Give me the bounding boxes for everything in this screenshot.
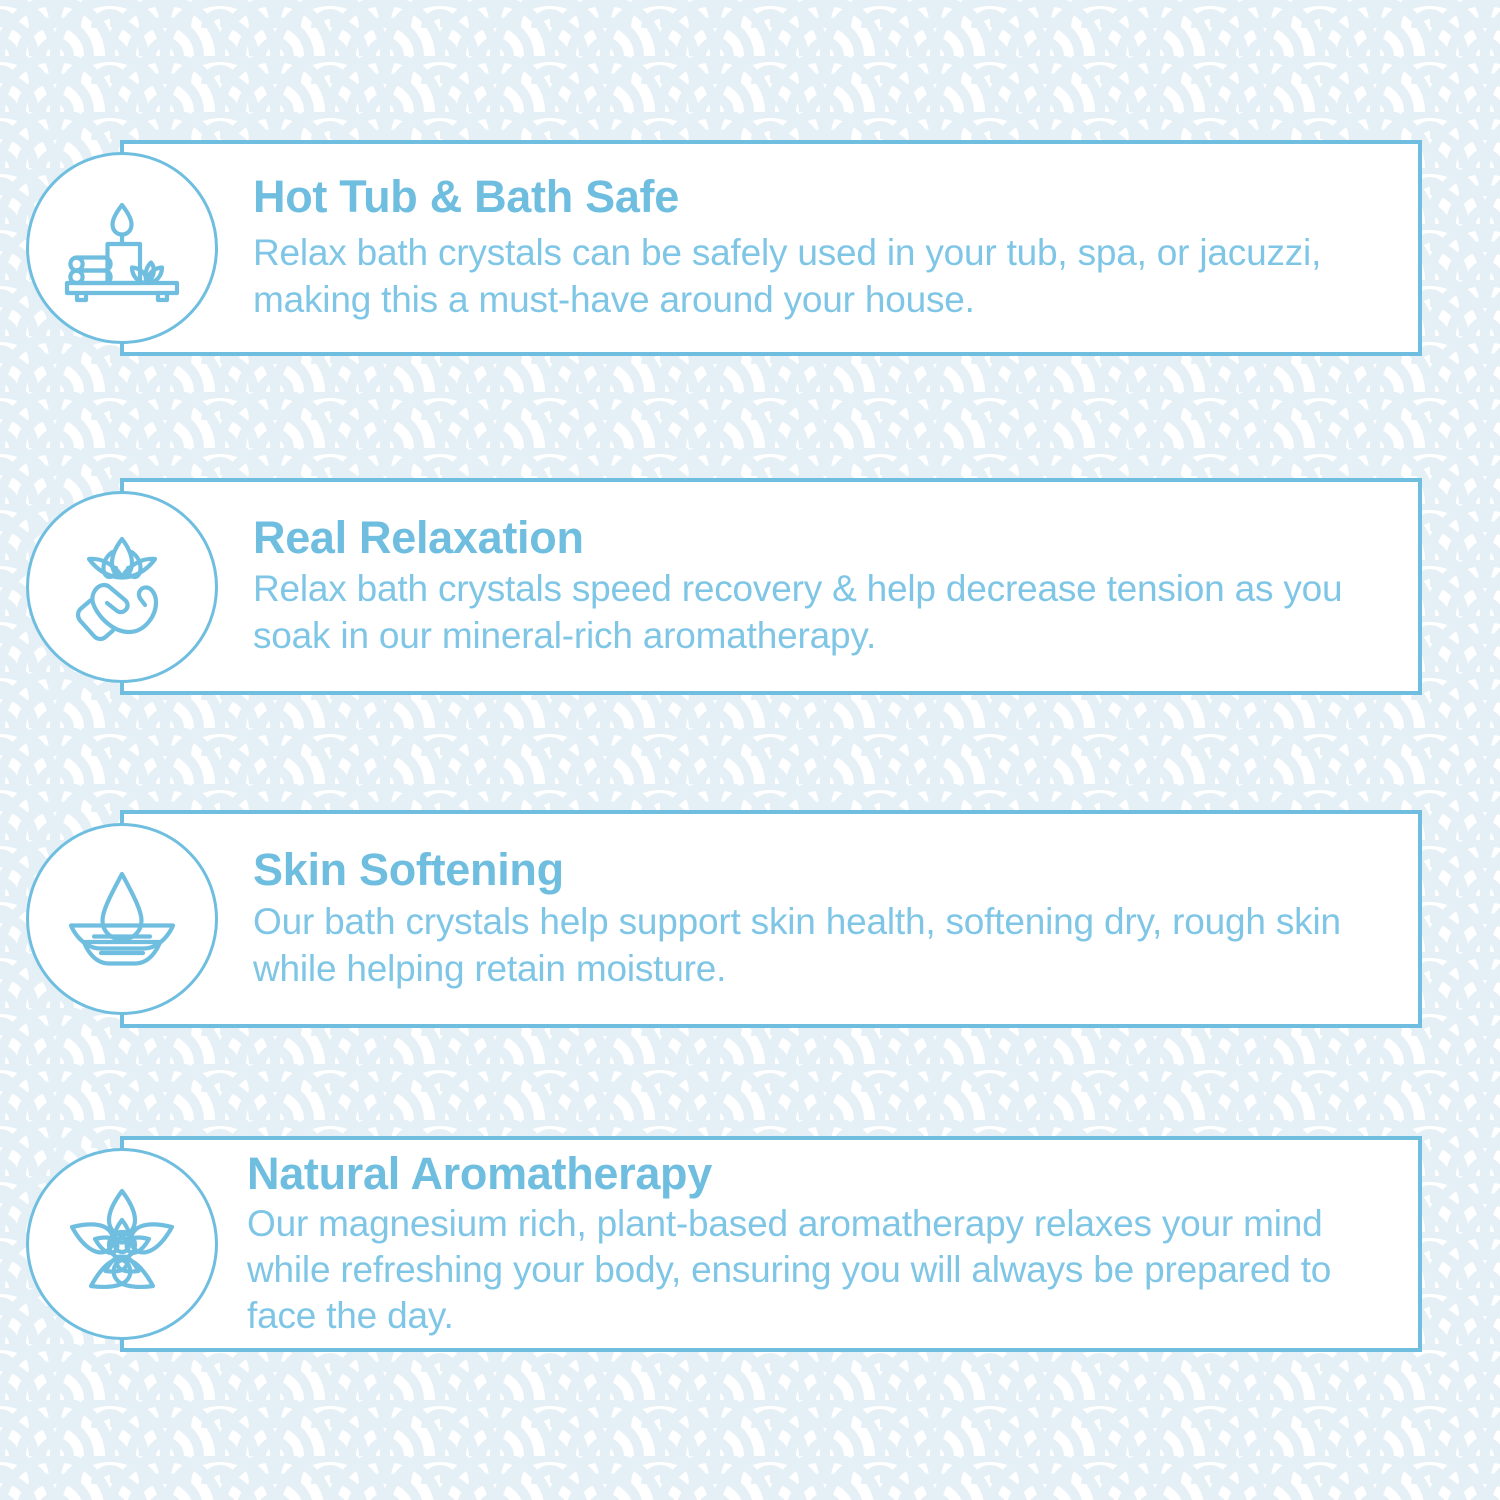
hand-holding-lotus-icon (26, 491, 218, 683)
feature-card-natural-aromatherapy[interactable]: Natural Aromatherapy Our magnesium rich,… (120, 1136, 1422, 1352)
water-droplet-bowl-icon (26, 823, 218, 1015)
feature-text-block: Real Relaxation Relax bath crystals spee… (124, 513, 1418, 659)
feature-text-block: Natural Aromatherapy Our magnesium rich,… (124, 1149, 1418, 1339)
feature-text-block: Hot Tub & Bath Safe Relax bath crystals … (124, 172, 1418, 324)
feature-description: Our magnesium rich, plant-based aromathe… (247, 1201, 1378, 1339)
feature-text-block: Skin Softening Our bath crystals help su… (124, 845, 1418, 993)
feature-list: Hot Tub & Bath Safe Relax bath crystals … (0, 0, 1500, 1500)
spa-candle-towels-icon (26, 152, 218, 344)
feature-card-skin-softening[interactable]: Skin Softening Our bath crystals help su… (120, 810, 1422, 1028)
flower-blossom-icon (26, 1148, 218, 1340)
feature-description: Our bath crystals help support skin heal… (253, 899, 1378, 993)
feature-title: Skin Softening (253, 845, 1378, 895)
feature-title: Natural Aromatherapy (247, 1149, 1378, 1199)
feature-description: Relax bath crystals can be safely used i… (253, 230, 1378, 324)
feature-card-real-relaxation[interactable]: Real Relaxation Relax bath crystals spee… (120, 478, 1422, 695)
feature-title: Hot Tub & Bath Safe (253, 172, 1378, 222)
feature-description: Relax bath crystals speed recovery & hel… (253, 566, 1378, 660)
feature-card-hot-tub-bath-safe[interactable]: Hot Tub & Bath Safe Relax bath crystals … (120, 140, 1422, 356)
feature-title: Real Relaxation (253, 513, 1378, 563)
